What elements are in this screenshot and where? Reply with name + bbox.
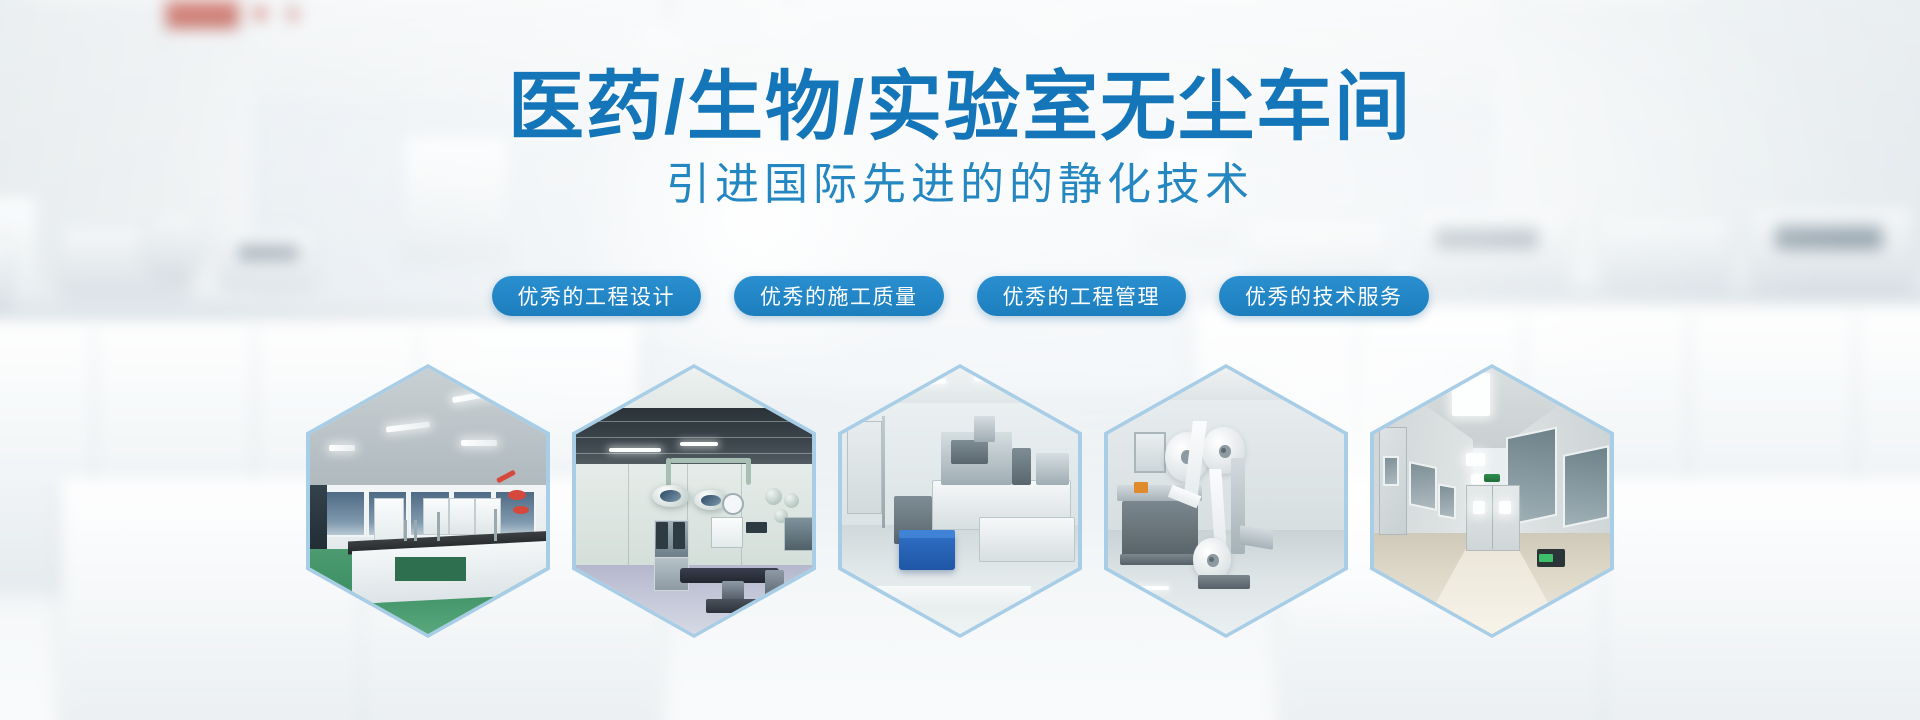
banner-title: 医药/生物/实验室无尘车间 <box>0 68 1920 147</box>
feature-pill-engineering-design[interactable]: 优秀的工程设计 <box>492 276 702 316</box>
hexagon-tile-laboratory-bench-room[interactable] <box>306 364 550 638</box>
banner-subtitle: 引进国际先进的的静化技术 <box>0 161 1920 209</box>
hexagon-tile-cleanroom-corridor[interactable] <box>1370 364 1614 638</box>
hexagon-image-laboratory-bench-room <box>310 368 546 634</box>
banner-text-block: 医药/生物/实验室无尘车间 引进国际先进的的静化技术 <box>0 68 1920 209</box>
feature-pill-project-management[interactable]: 优秀的工程管理 <box>977 276 1187 316</box>
hexagon-image-packaging-machine-room <box>1108 368 1344 634</box>
hexagon-image-cleanroom-corridor <box>1374 368 1610 634</box>
hero-banner: 医药/生物/实验室无尘车间 引进国际先进的的静化技术 优秀的工程设计 优秀的施工… <box>0 0 1920 720</box>
feature-pill-list: 优秀的工程设计 优秀的施工质量 优秀的工程管理 优秀的技术服务 <box>0 276 1920 316</box>
hexagon-tile-packaging-machine-room[interactable] <box>1104 364 1348 638</box>
hexagon-image-production-cleanroom <box>842 368 1078 634</box>
feature-pill-construction-quality[interactable]: 优秀的施工质量 <box>734 276 944 316</box>
hexagon-tile-operating-theatre[interactable] <box>572 364 816 638</box>
hexagon-image-operating-theatre <box>576 368 812 634</box>
hexagon-tile-production-cleanroom[interactable] <box>838 364 1082 638</box>
hexagon-gallery <box>0 364 1920 638</box>
feature-pill-technical-service[interactable]: 优秀的技术服务 <box>1219 276 1429 316</box>
